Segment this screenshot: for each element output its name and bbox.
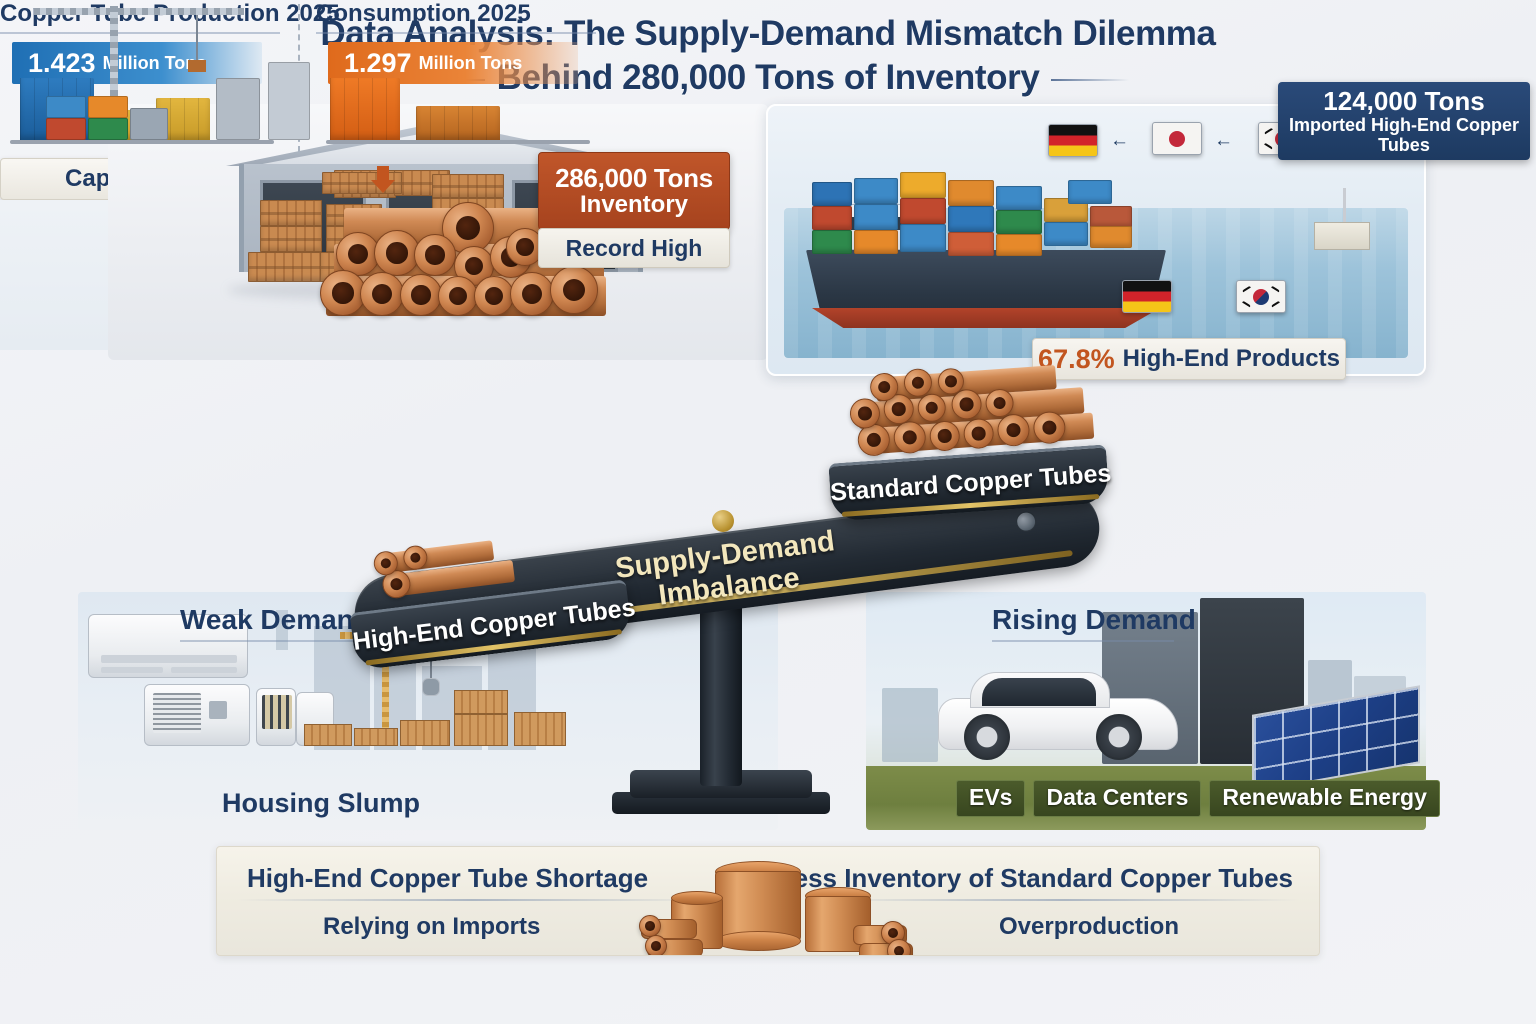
high-end-share-label: High-End Products	[1123, 345, 1340, 373]
ship-bow-mast	[1343, 188, 1346, 222]
summary-right-sub: Overproduction	[999, 913, 1179, 941]
cargo-container	[996, 186, 1042, 210]
scale-top-knob	[712, 510, 734, 532]
arrow-left-icon: ←	[1110, 134, 1132, 148]
cargo-container	[812, 206, 852, 230]
consumption-value: 1.297	[344, 48, 412, 79]
inventory-value: 286,000 Tons	[555, 164, 713, 192]
consumption-unit: Million Tons	[419, 53, 523, 74]
import-label: Imported High-End Copper Tubes	[1286, 115, 1522, 155]
cargo-container	[854, 178, 898, 204]
yard-container	[46, 96, 86, 118]
high-end-share-badge: 67.8% High-End Products	[1032, 338, 1346, 380]
tag-renewable-energy[interactable]: Renewable Energy	[1209, 780, 1440, 817]
crane-jib	[34, 8, 244, 15]
cargo-container	[854, 204, 898, 230]
cargo-container	[948, 232, 994, 256]
pallet-stack	[432, 174, 504, 198]
yard-container	[88, 96, 128, 118]
consumption-header: Consumption 2025	[316, 0, 596, 34]
cargo-container	[1090, 206, 1132, 228]
crane-cable	[196, 15, 198, 61]
record-high-badge: Record High	[538, 228, 730, 268]
production-value: 1.423	[28, 48, 96, 79]
consumption-bar-primary	[330, 78, 400, 140]
flag-germany-icon	[1122, 280, 1172, 313]
ship-hull	[806, 250, 1166, 312]
ship-bow-house	[1314, 222, 1370, 250]
chart-baseline	[10, 140, 274, 144]
cargo-container	[1068, 180, 1112, 204]
inventory-badge: 286,000 Tons Inventory	[538, 152, 730, 230]
scale-rivet	[1015, 510, 1037, 532]
cargo-container	[812, 182, 852, 206]
cargo-container	[1090, 226, 1132, 248]
chart-baseline	[326, 140, 590, 144]
inventory-label: Inventory	[580, 192, 688, 218]
scale-center-label: Supply-Demand Imbalance	[613, 525, 840, 617]
cargo-container	[1044, 222, 1088, 246]
yard-building	[268, 62, 310, 140]
pallet-stack	[260, 226, 322, 252]
import-value: 124,000 Tons	[1323, 87, 1484, 115]
cargo-container	[900, 224, 946, 252]
cargo-container	[948, 180, 994, 206]
cargo-container	[996, 210, 1042, 234]
electrical-panel	[256, 688, 296, 746]
infographic-canvas: Data Analysis: The Supply-Demand Mismatc…	[0, 0, 1536, 1024]
production-header: Copper Tube Production 2025	[0, 0, 280, 34]
consumption-bar-secondary	[416, 106, 500, 140]
summary-bar: High-End Copper Tube Shortage Relying on…	[216, 846, 1320, 956]
flag-south-korea-icon	[1236, 280, 1286, 313]
cargo-container	[948, 206, 994, 232]
flag-japan-icon	[1152, 122, 1202, 155]
yard-building	[216, 78, 260, 140]
ship-hull-waterline	[812, 308, 1160, 328]
cargo-container	[900, 198, 946, 224]
flag-germany-icon	[1048, 124, 1098, 157]
cargo-container	[854, 230, 898, 254]
summary-left-main: High-End Copper Tube Shortage	[247, 863, 648, 894]
yard-container	[46, 118, 86, 140]
pallet-stack	[260, 200, 322, 226]
cargo-container	[900, 172, 946, 198]
yard-block	[130, 108, 168, 140]
pallet-stack	[248, 252, 326, 282]
summary-left-sub: Relying on Imports	[323, 913, 540, 941]
consumption-chart-column: Consumption 2025 1.297 Million Tons	[316, 0, 596, 158]
import-volume-badge: 124,000 Tons Imported High-End Copper Tu…	[1278, 82, 1530, 160]
crane-hook	[188, 60, 206, 72]
air-conditioner-outdoor-unit	[144, 684, 250, 746]
cargo-container	[812, 230, 852, 254]
scale-pillar	[700, 596, 742, 786]
cargo-container	[996, 234, 1042, 256]
copper-stack-illustration	[637, 851, 907, 956]
arrow-left-icon: ←	[1214, 134, 1236, 148]
supply-demand-balance-scale: Supply-Demand Imbalance High-End Copper …	[330, 470, 1120, 820]
yard-container	[88, 118, 128, 140]
